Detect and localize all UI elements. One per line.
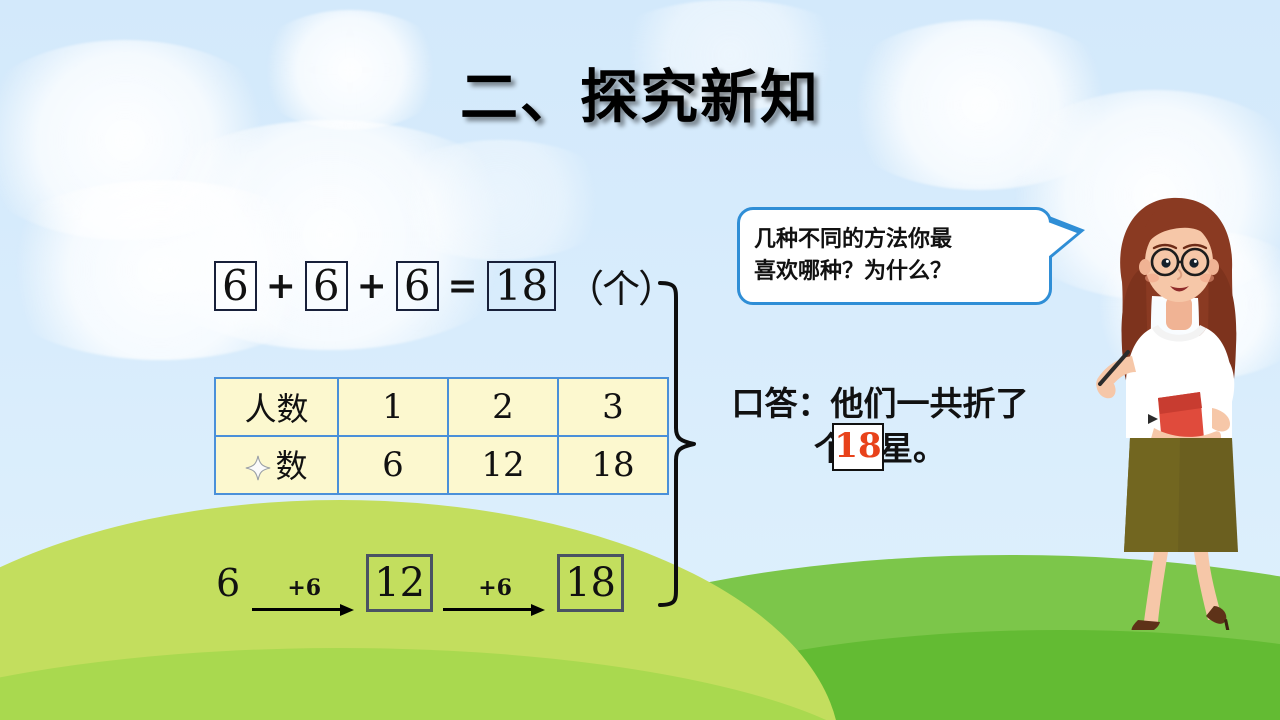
speech-bubble-line-2: 喜欢哪种？为什么？ [754,256,1035,288]
equation-plus-1: + [257,265,305,307]
cloud-icon [380,140,620,260]
equation-term-2: 6 [305,261,348,311]
teacher-illustration [1080,170,1280,630]
equation-row: 6 + 6 + 6 = 18 （个） [214,258,674,313]
answer-text: 口答：他们一共折了 个星星。 18 [700,382,1060,471]
equation-result: 18 [487,261,556,311]
table-row-header-stars: 数 [215,436,338,494]
equation-term-3: 6 [396,261,439,311]
table-cell: 6 [338,436,448,494]
equation-equals: = [439,265,487,307]
table-cell: 12 [448,436,558,494]
slide-canvas: 二、探究新知 6 + 6 + 6 = 18 （个） 人数 1 2 3 [0,0,1280,720]
chain-step-label-1: +6 [287,575,321,601]
speech-bubble-tail-inner [1048,222,1077,257]
table-row-header-people: 人数 [215,378,338,436]
table-row: 人数 1 2 3 [215,378,668,436]
answer-line-2-wrap: 个星星。 18 [814,427,946,472]
chain-start-value: 6 [214,561,242,605]
chain-result-1: 12 [366,554,433,612]
answer-highlight-box: 18 [832,423,884,471]
answer-line-1: 口答：他们一共折了 [700,382,1060,427]
table-row: 数 6 12 18 [215,436,668,494]
equation-term-1: 6 [214,261,257,311]
table-row-header-stars-label: 数 [275,441,307,487]
speech-bubble-line-1: 几种不同的方法你最 [754,224,1035,256]
equation-plus-2: + [348,265,396,307]
table-cell: 2 [448,378,558,436]
page-title: 二、探究新知 [0,50,1280,134]
table-cell: 1 [338,378,448,436]
chain-step-label-2: +6 [478,575,512,601]
data-table: 人数 1 2 3 数 6 12 18 [214,377,669,495]
arrow-right-icon [252,604,356,614]
star-icon [245,451,271,477]
speech-bubble: 几种不同的方法你最 喜欢哪种？为什么？ [737,207,1052,305]
chain-result-2: 18 [557,554,624,612]
arrow-right-icon [443,604,547,614]
arrow-chain: 6 +6 12 +6 18 [214,552,624,614]
chain-arrow-1: +6 [248,552,360,614]
chain-arrow-2: +6 [439,552,551,614]
